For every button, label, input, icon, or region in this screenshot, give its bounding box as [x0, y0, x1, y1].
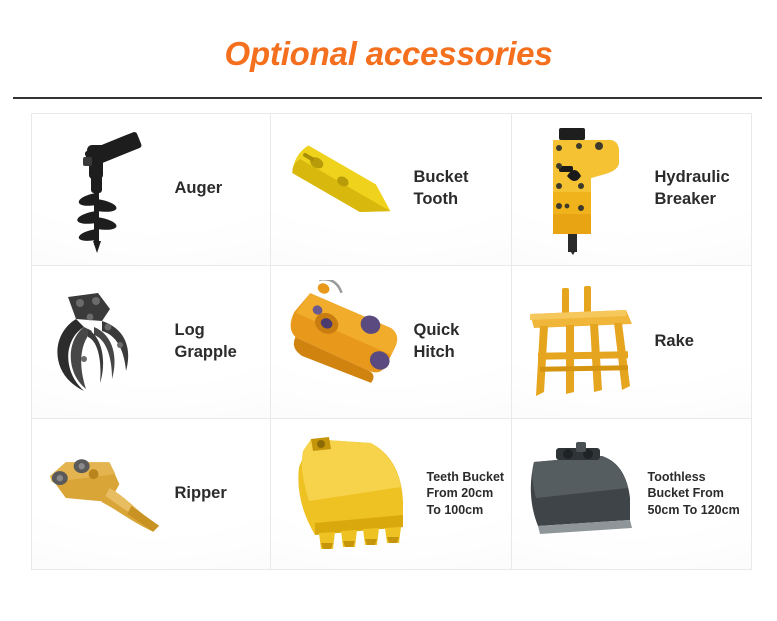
accessory-cell-bucket-tooth[interactable]: Bucket Tooth — [270, 113, 512, 266]
accessory-cell-toothless-bucket[interactable]: Toothless Bucket From 50cm To 120cm — [511, 418, 752, 570]
accessory-cell-teeth-bucket[interactable]: Teeth Bucket From 20cm To 100cm — [270, 418, 512, 570]
toothless-bucket-icon — [516, 419, 646, 569]
rake-icon — [516, 266, 651, 418]
accessories-page: Optional accessories — [0, 0, 777, 621]
accessory-label: Toothless Bucket From 50cm To 120cm — [646, 469, 745, 519]
accessory-label: Ripper — [171, 483, 264, 505]
accessories-grid: Auger Bucket Tooth — [31, 113, 751, 569]
accessory-label: Quick Hitch — [410, 320, 505, 364]
quick-hitch-icon — [275, 266, 410, 418]
log-grapple-icon — [36, 266, 171, 418]
accessory-label: Log Grapple — [171, 320, 264, 364]
ripper-icon — [36, 419, 171, 569]
auger-icon — [36, 114, 171, 265]
teeth-bucket-icon — [275, 419, 425, 569]
accessory-label: Bucket Tooth — [410, 167, 505, 211]
accessory-cell-ripper[interactable]: Ripper — [31, 418, 271, 570]
bucket-tooth-icon — [275, 114, 410, 265]
accessory-cell-hydraulic-breaker[interactable]: Hydraulic Breaker — [511, 113, 752, 266]
page-title: Optional accessories — [0, 34, 777, 74]
title-divider — [13, 97, 762, 99]
accessory-label: Teeth Bucket From 20cm To 100cm — [425, 469, 505, 519]
hydraulic-breaker-icon — [516, 114, 651, 265]
accessory-cell-rake[interactable]: Rake — [511, 265, 752, 419]
accessory-label: Rake — [651, 331, 745, 353]
accessory-label: Hydraulic Breaker — [651, 167, 745, 211]
accessory-label: Auger — [171, 178, 264, 200]
accessory-cell-quick-hitch[interactable]: Quick Hitch — [270, 265, 512, 419]
accessory-cell-log-grapple[interactable]: Log Grapple — [31, 265, 271, 419]
accessory-cell-auger[interactable]: Auger — [31, 113, 271, 266]
